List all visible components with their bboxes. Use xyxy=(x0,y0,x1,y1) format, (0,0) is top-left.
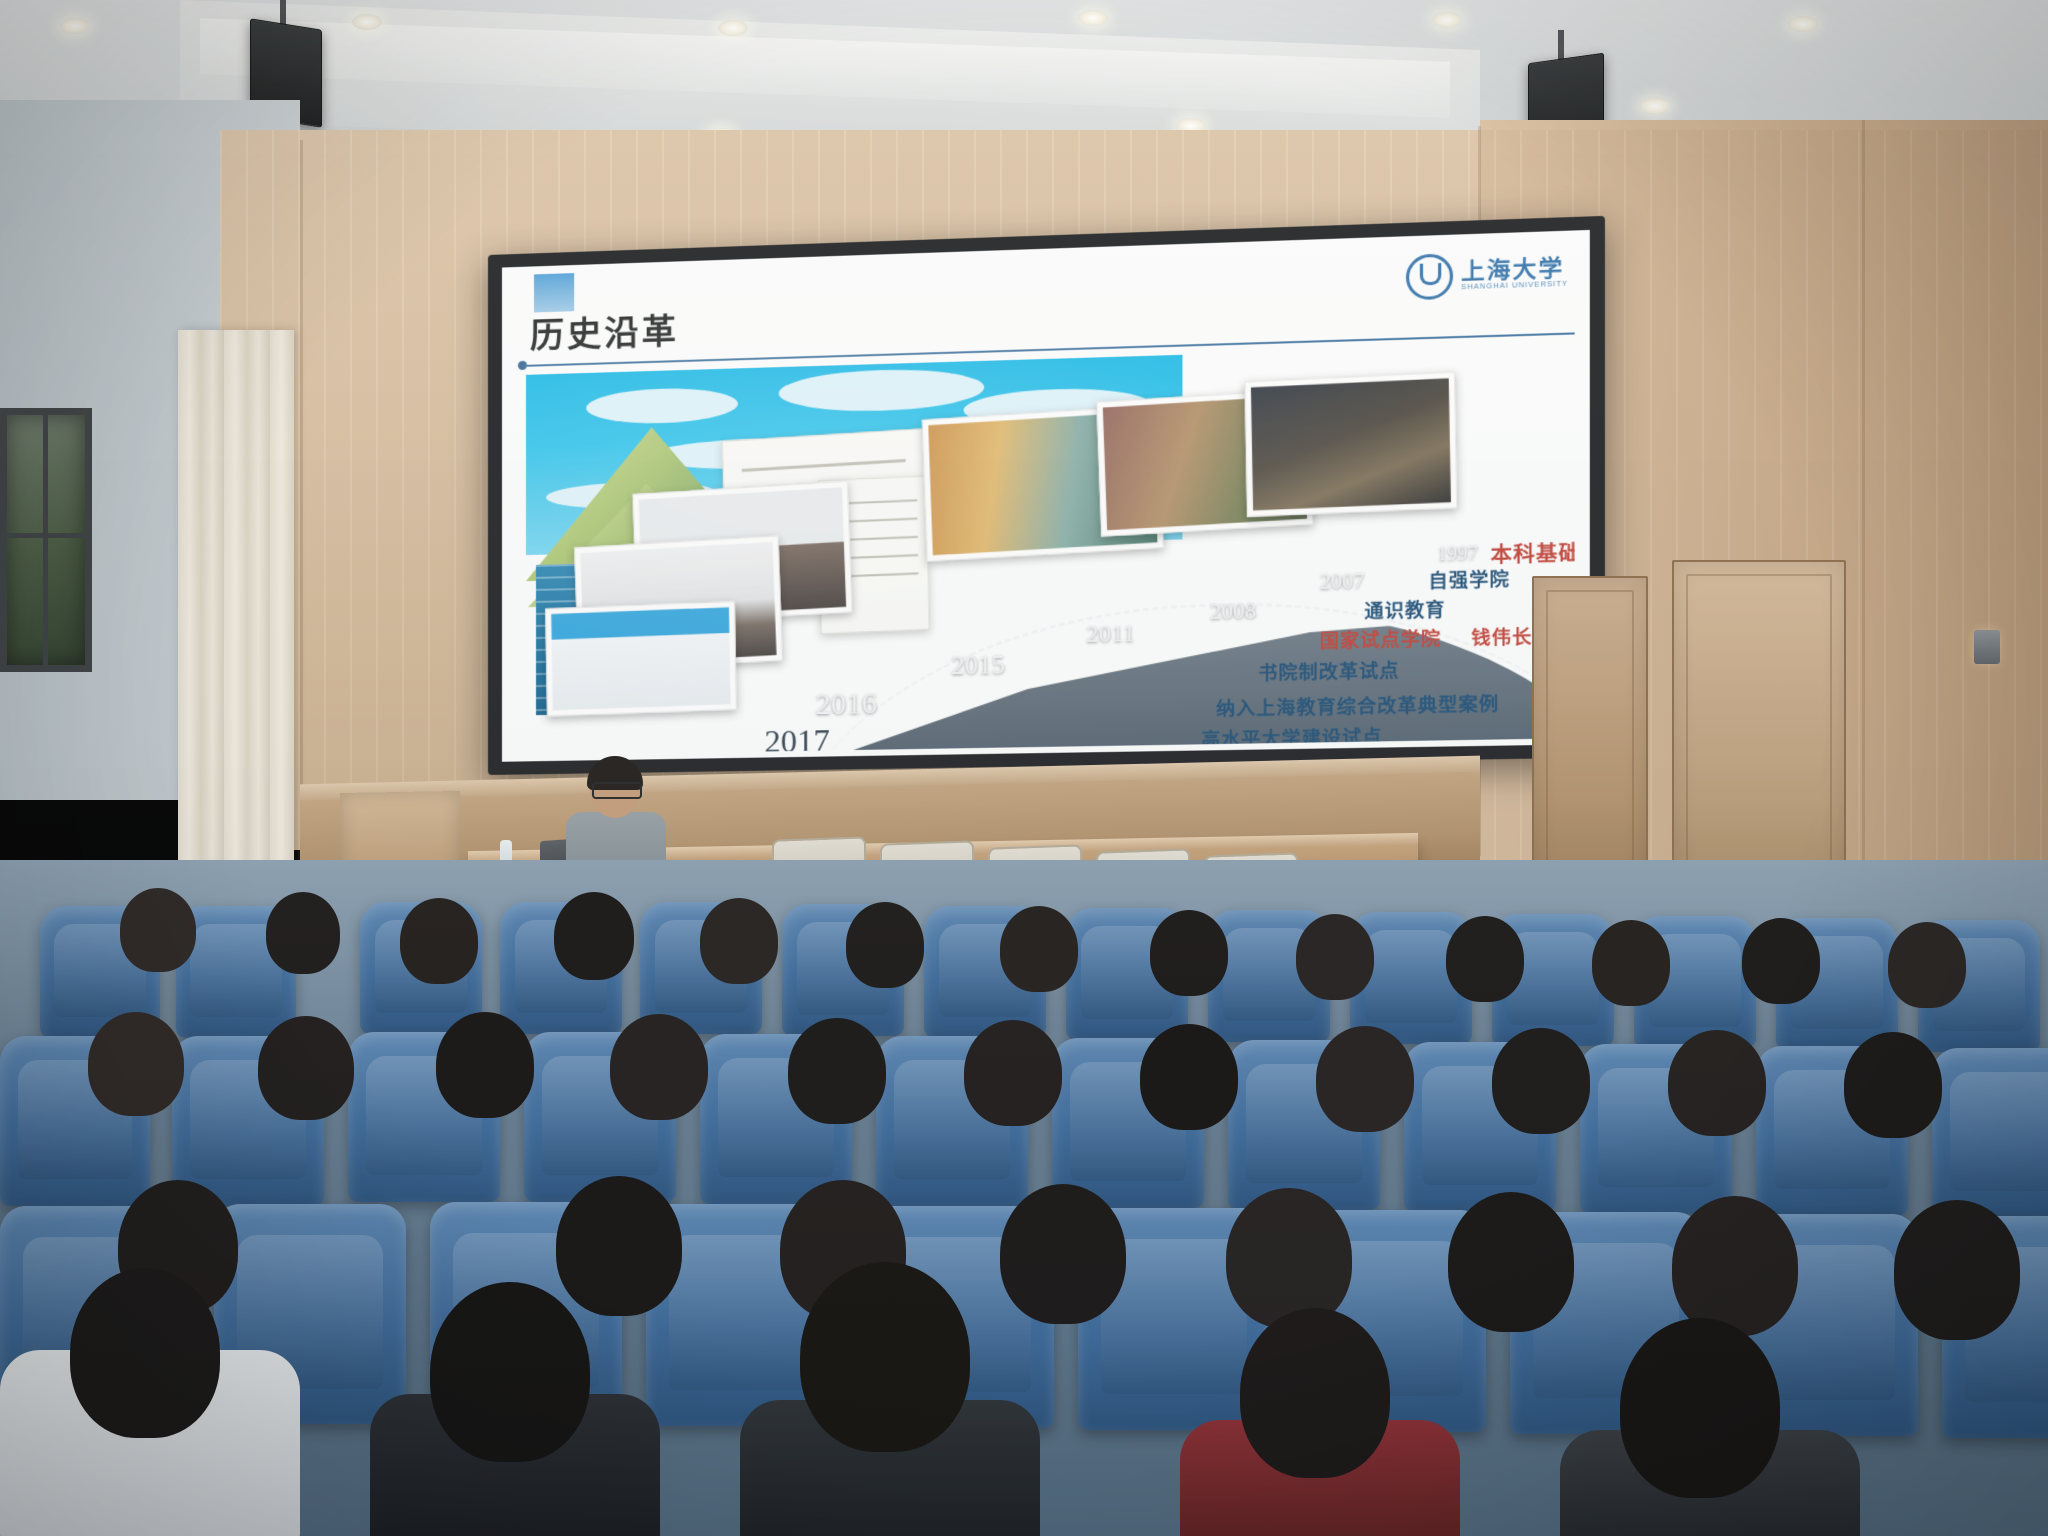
timeline-label: 自强学院 xyxy=(1428,565,1510,594)
timeline-year: 1997 xyxy=(1437,543,1478,567)
slide-title: 历史沿革 xyxy=(530,304,679,358)
audience-head xyxy=(1894,1200,2020,1340)
audience-head xyxy=(846,902,924,988)
audience-head xyxy=(436,1012,534,1118)
side-door[interactable] xyxy=(1672,560,1846,904)
audience-head xyxy=(1888,922,1966,1008)
audience-head xyxy=(400,898,478,984)
audience-head xyxy=(554,892,634,980)
audience-head xyxy=(1742,918,1820,1004)
ceiling-light xyxy=(1432,12,1462,28)
university-logo: 上海大学 SHANGHAI UNIVERSITY xyxy=(1407,249,1569,300)
audience-head xyxy=(1592,920,1670,1006)
audience-head xyxy=(1296,914,1374,1000)
audience-head xyxy=(556,1176,682,1316)
screen-surface: 历史沿革 上海大学 SHANGHAI UNIVERSITY xyxy=(502,230,1590,762)
ceiling-light xyxy=(718,20,748,36)
curtain xyxy=(178,330,294,878)
ceiling-light xyxy=(352,14,382,30)
audience-head xyxy=(1150,910,1228,996)
timeline-label: 纳入上海教育综合改革典型案例 xyxy=(1216,690,1499,722)
timeline-year: 2008 xyxy=(1210,597,1256,625)
audience-head xyxy=(430,1282,590,1462)
timeline-label: 国家试点学院 xyxy=(1320,624,1442,653)
audience-head xyxy=(1316,1026,1414,1132)
audience-head xyxy=(1240,1308,1390,1478)
timeline-year: 2011 xyxy=(1086,620,1135,649)
audience-head xyxy=(1668,1030,1766,1136)
audience-head xyxy=(964,1020,1062,1126)
audience-head xyxy=(700,898,778,984)
audience-head xyxy=(1620,1318,1780,1498)
timeline-year: 2007 xyxy=(1320,568,1365,595)
presentation-slide: 历史沿革 上海大学 SHANGHAI UNIVERSITY xyxy=(502,230,1590,762)
window xyxy=(0,408,92,672)
audience-head xyxy=(1140,1024,1238,1130)
ceiling-light xyxy=(1640,98,1670,114)
timeline-year: 2017 xyxy=(764,722,829,755)
speaker-bracket xyxy=(280,0,286,26)
timeline-label: 本科基础强化班 xyxy=(1491,535,1575,569)
ceiling-light xyxy=(60,18,90,34)
wall-sconce xyxy=(1974,630,2000,664)
wall-seam xyxy=(1862,120,1865,860)
timeline-label: 通识教育 xyxy=(1364,595,1445,624)
lecture-hall-photo: 历史沿革 上海大学 SHANGHAI UNIVERSITY xyxy=(0,0,2048,1536)
audience-seat xyxy=(1932,1048,2048,1218)
audience-head xyxy=(1672,1196,1798,1336)
audience-head xyxy=(1000,1184,1126,1324)
ceiling-light xyxy=(1788,16,1818,32)
audience-head xyxy=(266,892,340,974)
audience-head xyxy=(800,1262,970,1452)
audience-head xyxy=(1226,1188,1352,1328)
wall-seam xyxy=(300,140,303,820)
logo-name-cn: 上海大学 xyxy=(1461,257,1568,283)
audience-head xyxy=(88,1012,184,1116)
website-screenshot xyxy=(545,601,737,717)
timeline-label: 高水平大学建设试点 xyxy=(1201,723,1382,753)
projection-screen: 历史沿革 上海大学 SHANGHAI UNIVERSITY xyxy=(488,216,1605,775)
audience-head xyxy=(788,1018,886,1124)
audience-head xyxy=(120,888,196,972)
logo-mark-icon xyxy=(1407,253,1454,300)
audience-head xyxy=(1000,906,1078,992)
timeline-year: 2016 xyxy=(815,687,877,723)
timeline-label: 书院制改革试点 xyxy=(1258,656,1399,685)
audience-head xyxy=(70,1268,220,1438)
speech-photo xyxy=(1244,372,1457,517)
presenter-glasses xyxy=(592,782,642,799)
slide-collage: 1997 2007 2008 2011 2015 2016 2017 2018 … xyxy=(526,343,1575,756)
speaker-bracket xyxy=(1558,30,1564,60)
audience-head xyxy=(1492,1028,1590,1134)
audience-head xyxy=(1844,1032,1942,1138)
audience-head xyxy=(258,1016,354,1120)
timeline-year: 2015 xyxy=(951,650,1005,682)
audience-head xyxy=(1446,916,1524,1002)
ceiling-light xyxy=(1078,10,1108,26)
audience-head xyxy=(610,1014,708,1120)
audience-head xyxy=(1448,1192,1574,1332)
side-door[interactable] xyxy=(1532,576,1648,896)
